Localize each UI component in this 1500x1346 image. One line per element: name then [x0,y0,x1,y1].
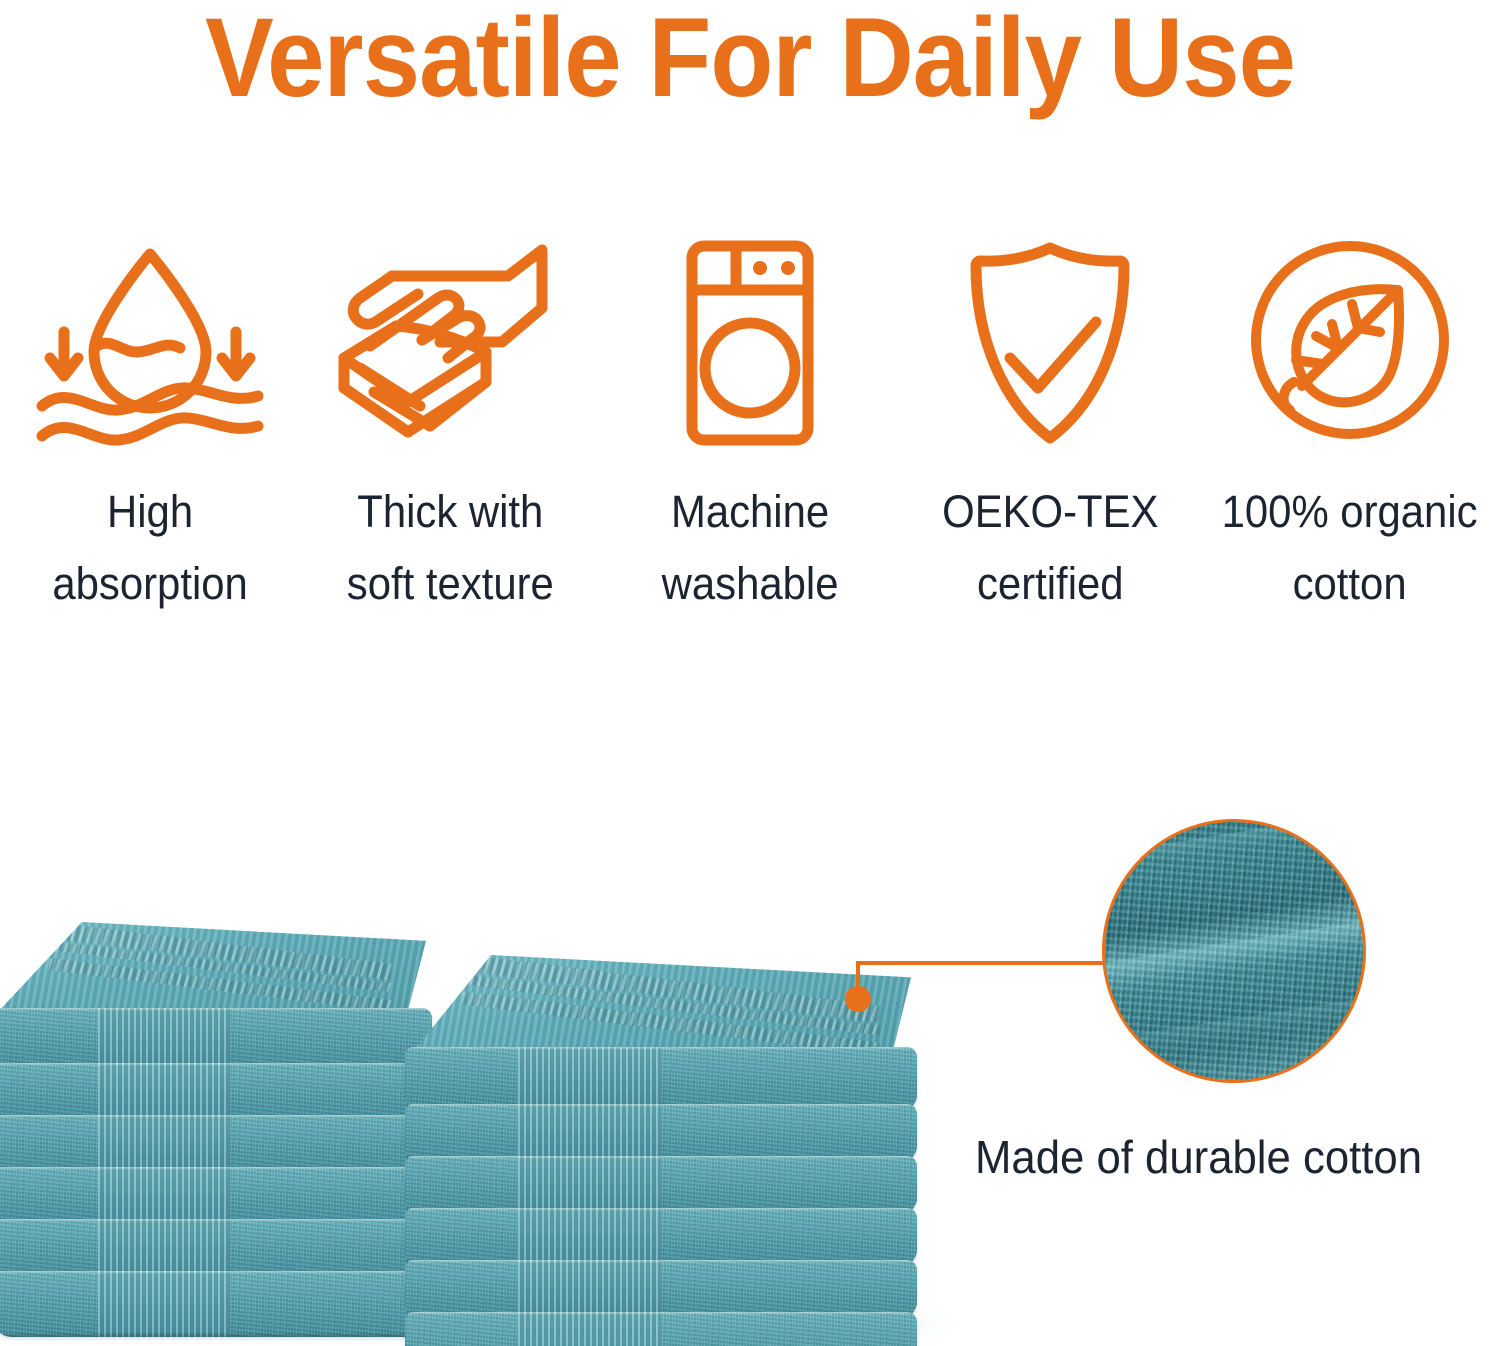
product-photo [0,770,1500,1346]
towel-layer [0,1008,432,1070]
towel-layer [0,1063,432,1121]
feature-item-oeko-tex-certified: OEKO-TEX certified [900,236,1200,620]
feature-label: Thick with soft texture [346,476,553,620]
callout-anchor-dot [845,986,871,1012]
towel-layer [405,1312,917,1346]
hand-on-folded-towels-icon [330,236,570,448]
feature-row: High absorption Thick wit [0,236,1500,616]
towel-layer [0,1219,432,1277]
feature-item-thick-soft-texture: Thick with soft texture [300,236,600,620]
water-drop-absorption-icon [30,236,270,448]
feature-item-machine-washable: Machine washable [600,236,900,620]
towel-layer [405,1260,917,1318]
shield-check-icon [930,236,1170,448]
callout-caption: Made of durable cotton [975,1128,1422,1186]
washing-machine-icon [630,236,870,448]
towel-layer [405,1208,917,1266]
towel-layer [405,1104,917,1162]
feature-label: 100% organic cotton [1222,476,1478,620]
feature-label: High absorption [52,476,247,620]
feature-item-organic-cotton: 100% organic cotton [1200,236,1500,620]
towel-layer [0,1271,432,1337]
leaf-in-circle-icon [1230,236,1470,448]
feature-label: OEKO-TEX certified [942,476,1158,620]
page-title: Versatile For Daily Use [60,0,1440,122]
feature-item-high-absorption: High absorption [0,236,300,620]
feature-label: Machine washable [662,476,839,620]
magnified-texture-circle [1102,819,1366,1083]
towel-layer [0,1115,432,1173]
towel-layer [405,1047,917,1111]
towel-layer [405,1156,917,1214]
towel-layer [0,1167,432,1225]
infographic-page: Versatile For Daily Use High absorption [0,0,1500,1346]
